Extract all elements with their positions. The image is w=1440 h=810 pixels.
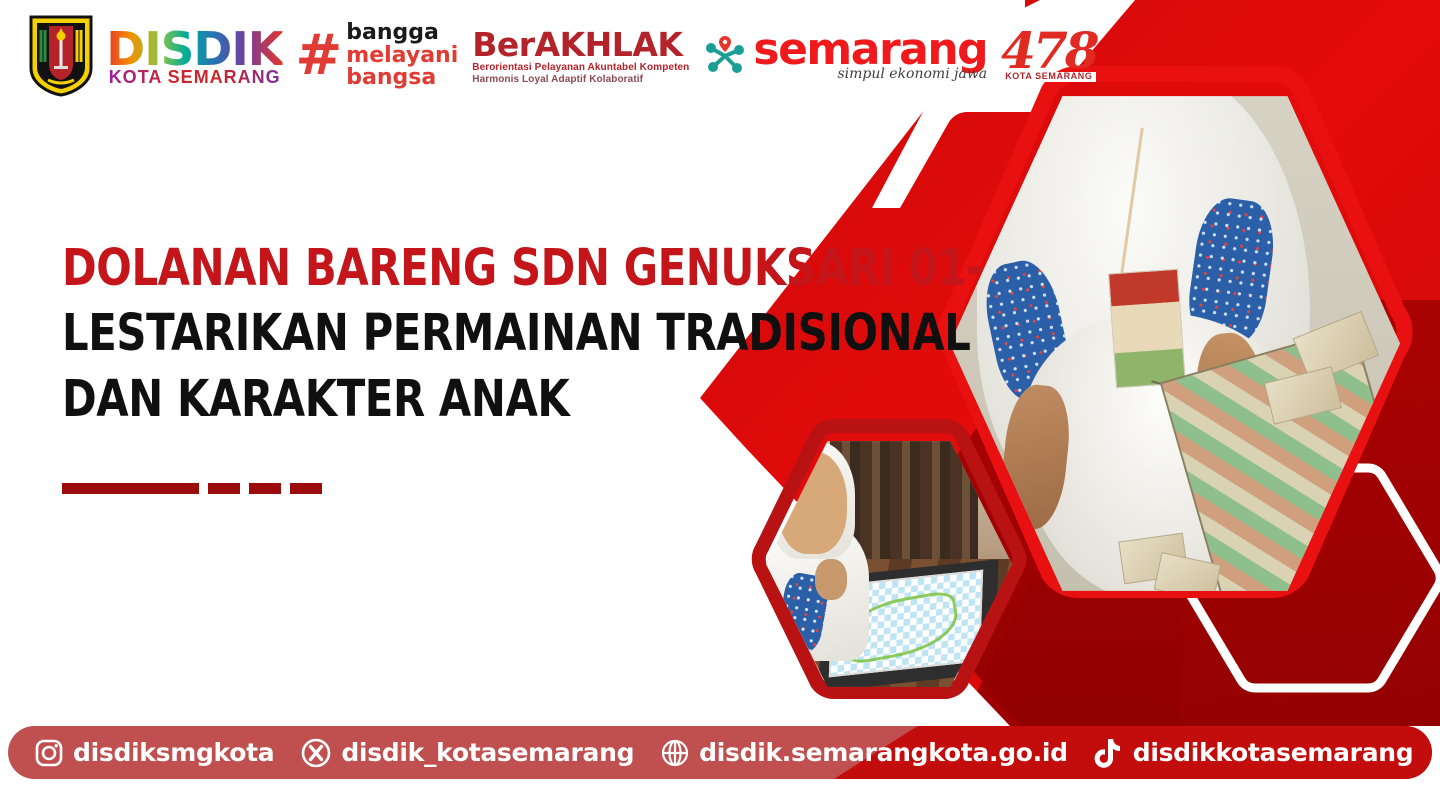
footer-instagram[interactable]: disdiksmgkota xyxy=(34,738,274,768)
tiktok-icon xyxy=(1094,737,1124,769)
x-handle: disdik_kotasemarang xyxy=(341,738,634,767)
berakhlak-title: BerAKHLAK xyxy=(472,28,689,61)
globe-icon xyxy=(660,738,690,768)
semarang-tagline: simpul ekonomi jawa xyxy=(753,68,987,80)
berakhlak-logo: BerAKHLAK Berorientasi Pelayanan Akuntab… xyxy=(472,28,689,85)
disdik-logo: DISDIK KOTA SEMARANG xyxy=(108,26,281,86)
footer-tiktok[interactable]: disdikkotasemarang xyxy=(1094,737,1414,769)
instagram-icon xyxy=(34,738,64,768)
website-url: disdik.semarangkota.go.id xyxy=(699,738,1068,767)
x-twitter-icon xyxy=(300,737,332,769)
bangga-line3: bangsa xyxy=(346,67,458,89)
berakhlak-tagline-1: Berorientasi Pelayanan Akuntabel Kompete… xyxy=(472,63,689,73)
disdik-wordmark: DISDIK xyxy=(106,26,283,72)
hash-icon: # xyxy=(295,34,342,79)
headline-line-2: LESTARIKAN PERMAINAN TRADISIONAL xyxy=(62,301,800,366)
anniversary-number: 478 xyxy=(1001,30,1096,73)
instagram-handle: disdiksmgkota xyxy=(73,738,274,767)
semarang-city-crest-icon xyxy=(28,14,94,98)
photo-secondary-hexagon xyxy=(748,418,1030,710)
anniversary-subtitle: KOTA SEMARANG xyxy=(1002,72,1095,82)
headline-underline-rule xyxy=(62,483,322,494)
photo-secondary-image xyxy=(766,436,1012,692)
header-logo-bar: DISDIK KOTA SEMARANG # bangga melayani b… xyxy=(0,0,1097,112)
headline-line-3: DAN KARAKTER ANAK xyxy=(62,367,800,432)
bangga-melayani-bangsa-logo: # bangga melayani bangsa xyxy=(295,22,458,89)
bangga-line2: melayani xyxy=(346,45,458,67)
semarang-wordmark: semarang xyxy=(753,31,987,70)
tiktok-handle: disdikkotasemarang xyxy=(1133,738,1414,767)
semarang-node-icon xyxy=(703,34,747,78)
social-footer-bar: disdiksmgkota disdik_kotasemarang xyxy=(8,726,1432,779)
footer-website[interactable]: disdik.semarangkota.go.id xyxy=(660,738,1068,768)
semarang-brand-logo: semarang simpul ekonomi jawa xyxy=(703,31,987,80)
poster-canvas: DISDIK KOTA SEMARANG # bangga melayani b… xyxy=(0,0,1440,810)
anniversary-478-logo: 478 KOTA SEMARANG xyxy=(1001,30,1096,82)
headline-block: DOLANAN BARENG SDN GENUKSARI 01- LESTARI… xyxy=(62,236,962,432)
bangga-line1: bangga xyxy=(346,22,458,44)
headline-line-1: DOLANAN BARENG SDN GENUKSARI 01- xyxy=(62,236,800,301)
footer-x[interactable]: disdik_kotasemarang xyxy=(300,737,634,769)
berakhlak-tagline-2: Harmonis Loyal Adaptif Kolaboratif xyxy=(472,75,689,85)
